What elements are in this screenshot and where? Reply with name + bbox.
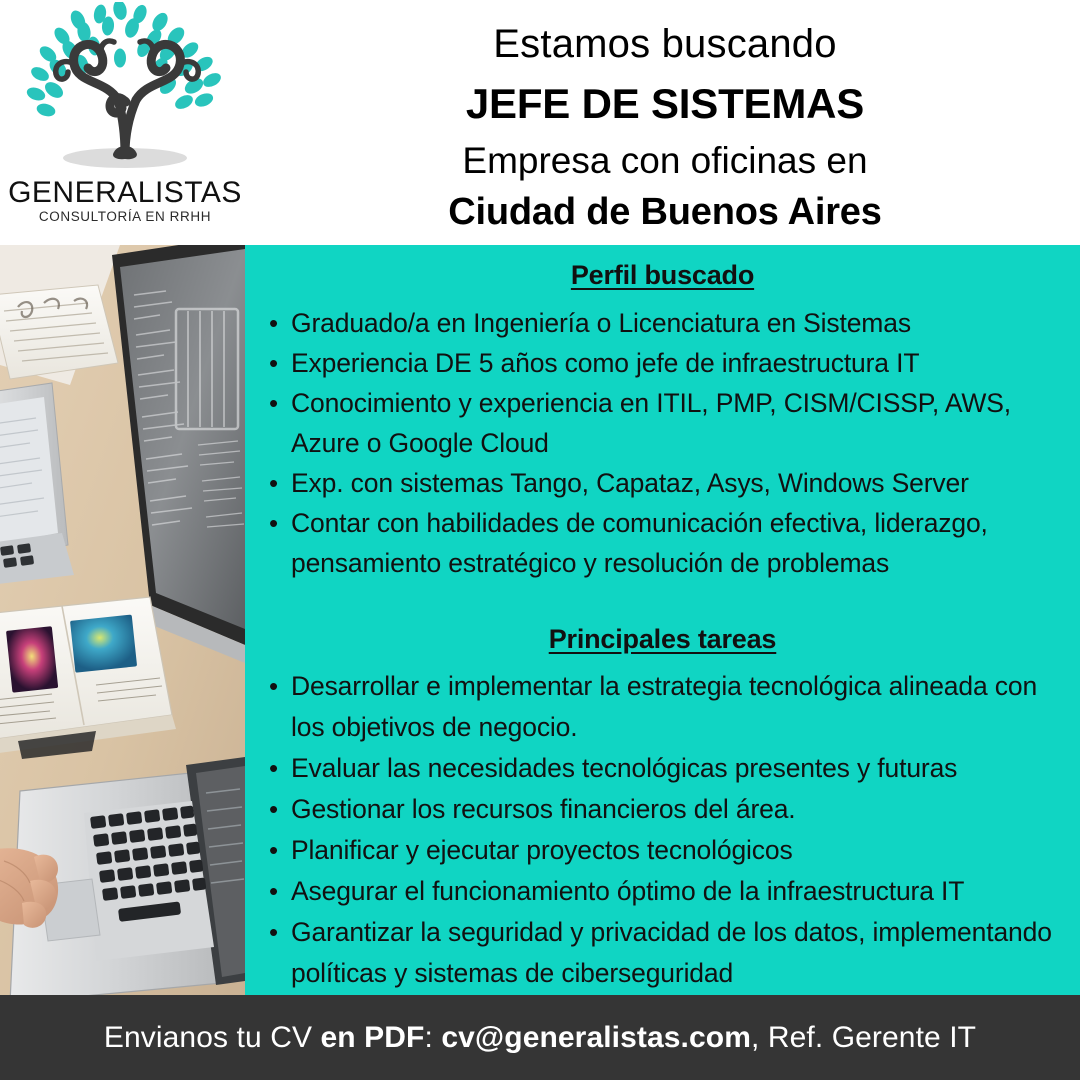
job-posting-poster: GENERALISTAS CONSULTORÍA EN RRHH Estamos… [0,0,1080,1080]
list-item-text: Conocimiento y experiencia en ITIL, PMP,… [291,388,1011,458]
company-office-line: Empresa con oficinas en [250,140,1080,182]
list-item: • Garantizar la seguridad y privacidad d… [263,912,1063,994]
bullet-icon: • [269,383,278,423]
list-item-text: Exp. con sistemas Tango, Capataz, Asys, … [291,468,969,498]
brand-logo-block: GENERALISTAS CONSULTORÍA EN RRHH [0,0,250,245]
brand-tagline: CONSULTORÍA EN RRHH [0,209,250,224]
contact-email[interactable]: cv@generalistas.com [441,1021,751,1054]
bullet-icon: • [269,343,278,383]
list-item-text: Asegurar el funcionamiento óptimo de la … [291,876,964,906]
contact-footer: Envianos tu CV en PDF: cv@generalistas.c… [0,995,1080,1080]
bullet-icon: • [269,463,278,503]
list-item: • Asegurar el funcionamiento óptimo de l… [263,871,1063,912]
footer-prefix: Envianos tu CV [104,1021,321,1054]
desk-workspace-photo [0,245,245,995]
list-item: • Conocimiento y experiencia en ITIL, PM… [263,383,1063,463]
bullet-icon: • [269,871,278,911]
footer-contact-line: Envianos tu CV en PDF: cv@generalistas.c… [104,1021,976,1055]
list-item-text: Planificar y ejecutar proyectos tecnológ… [291,835,793,865]
poster-header: GENERALISTAS CONSULTORÍA EN RRHH Estamos… [0,0,1080,245]
list-item: • Experiencia DE 5 años como jefe de inf… [263,343,1063,383]
list-item-text: Graduado/a en Ingeniería o Licenciatura … [291,308,911,338]
header-text-block: Estamos buscando JEFE DE SISTEMAS Empres… [250,0,1080,245]
profile-list: • Graduado/a en Ingeniería o Licenciatur… [263,303,1063,583]
job-title: JEFE DE SISTEMAS [250,80,1080,128]
list-item-text: Gestionar los recursos financieros del á… [291,794,796,824]
bullet-icon: • [269,503,278,543]
footer-reference: , Ref. Gerente IT [751,1021,976,1054]
footer-separator: : [424,1021,441,1054]
list-item: • Contar con habilidades de comunicación… [263,503,1063,583]
bullet-icon: • [269,303,278,343]
bullet-icon: • [269,912,278,952]
footer-format-label: en PDF [321,1021,425,1054]
tasks-section-title: Principales tareas [245,624,1080,655]
brand-name: GENERALISTAS [0,176,250,210]
job-location: Ciudad de Buenos Aires [250,191,1080,234]
list-item-text: Contar con habilidades de comunicación e… [291,508,988,578]
tasks-list: • Desarrollar e implementar la estrategi… [263,666,1063,994]
profile-section-title: Perfil buscado [245,260,1080,291]
list-item-text: Desarrollar e implementar la estrategia … [291,671,1037,742]
list-item-text: Evaluar las necesidades tecnológicas pre… [291,753,957,783]
bullet-icon: • [269,748,278,788]
tree-icon [18,2,233,177]
bullet-icon: • [269,666,278,706]
list-item: • Graduado/a en Ingeniería o Licenciatur… [263,303,1063,343]
list-item: • Evaluar las necesidades tecnológicas p… [263,748,1063,789]
bullet-icon: • [269,789,278,829]
bullet-icon: • [269,830,278,870]
requirements-panel: Perfil buscado • Graduado/a en Ingenierí… [245,245,1080,995]
list-item: • Gestionar los recursos financieros del… [263,789,1063,830]
list-item: • Exp. con sistemas Tango, Capataz, Asys… [263,463,1063,503]
list-item-text: Experiencia DE 5 años como jefe de infra… [291,348,919,378]
list-item: • Desarrollar e implementar la estrategi… [263,666,1063,748]
header-intro-line: Estamos buscando [250,22,1080,67]
list-item: • Planificar y ejecutar proyectos tecnol… [263,830,1063,871]
list-item-text: Garantizar la seguridad y privacidad de … [291,917,1052,988]
